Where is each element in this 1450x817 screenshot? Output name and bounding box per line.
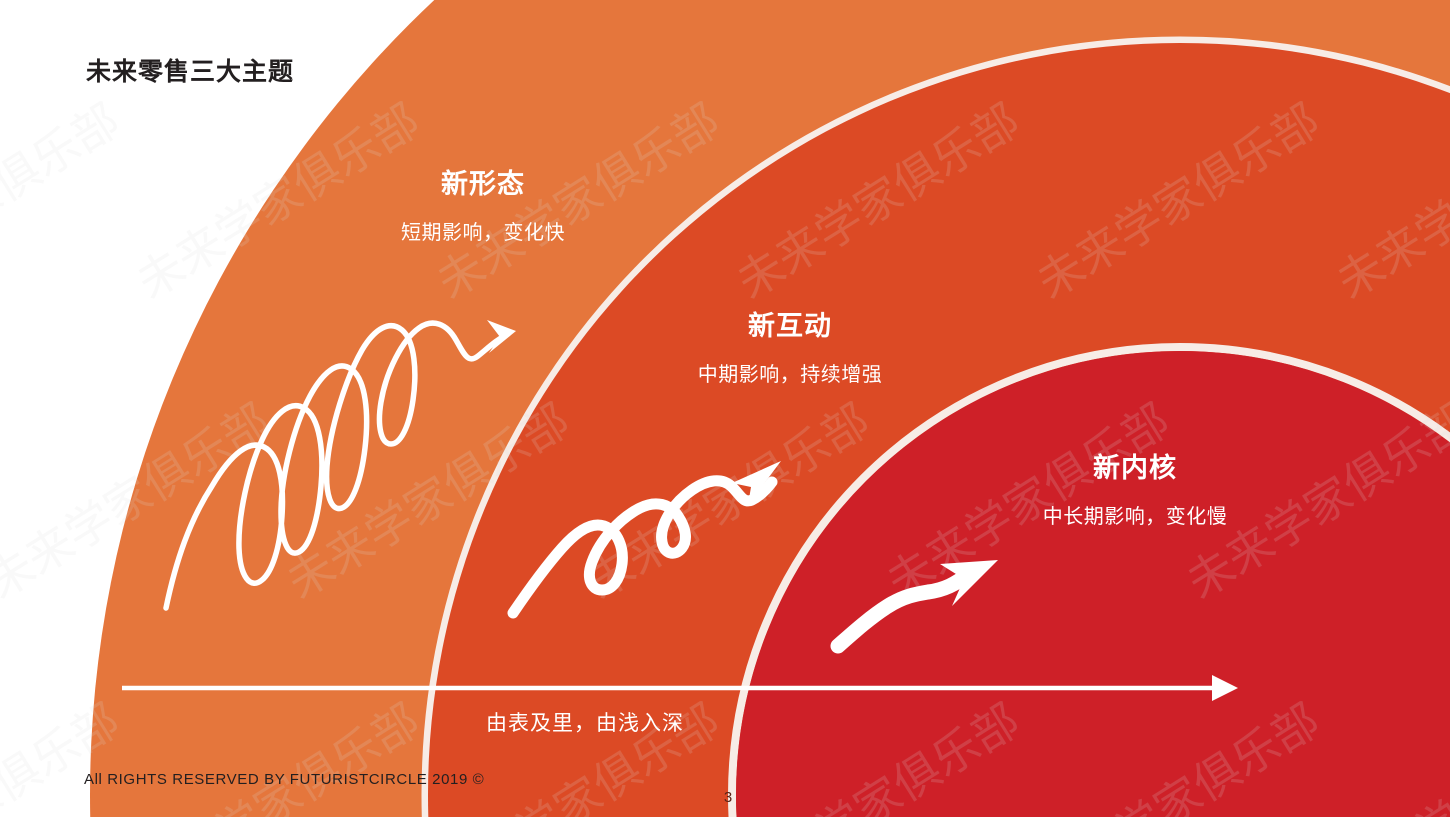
footer-copyright: All RIGHTS RESERVED BY FUTURISTCIRCLE 20… bbox=[84, 771, 484, 788]
ring-label-outer: 新形态 短期影响，变化快 bbox=[333, 168, 633, 246]
ring-inner-subtitle: 中长期影响，变化慢 bbox=[985, 504, 1285, 530]
page-title: 未来零售三大主题 bbox=[86, 52, 294, 88]
ring-outer-title: 新形态 bbox=[333, 168, 633, 200]
squiggly-arrow-high-frequency bbox=[166, 320, 516, 608]
ring-middle-title: 新互动 bbox=[640, 310, 940, 342]
ring-label-inner: 新内核 中长期影响，变化慢 bbox=[985, 452, 1285, 530]
axis-caption: 由表及里，由浅入深 bbox=[435, 707, 735, 737]
page-number: 3 bbox=[713, 789, 743, 806]
slide-canvas: 未来学家俱乐部未来学家俱乐部未来学家俱乐部未来学家俱乐部未来学家俱乐部未来学家俱… bbox=[0, 0, 1450, 817]
ring-inner-title: 新内核 bbox=[985, 452, 1285, 484]
squiggly-arrow-low-frequency bbox=[838, 560, 998, 646]
axis-arrow bbox=[122, 675, 1238, 701]
foreground-layer bbox=[0, 0, 1450, 817]
axis-arrowhead bbox=[1212, 675, 1238, 701]
squiggly-arrow-medium-frequency bbox=[513, 461, 781, 613]
ring-outer-subtitle: 短期影响，变化快 bbox=[333, 220, 633, 246]
ring-label-middle: 新互动 中期影响，持续增强 bbox=[640, 310, 940, 388]
ring-middle-subtitle: 中期影响，持续增强 bbox=[640, 362, 940, 388]
